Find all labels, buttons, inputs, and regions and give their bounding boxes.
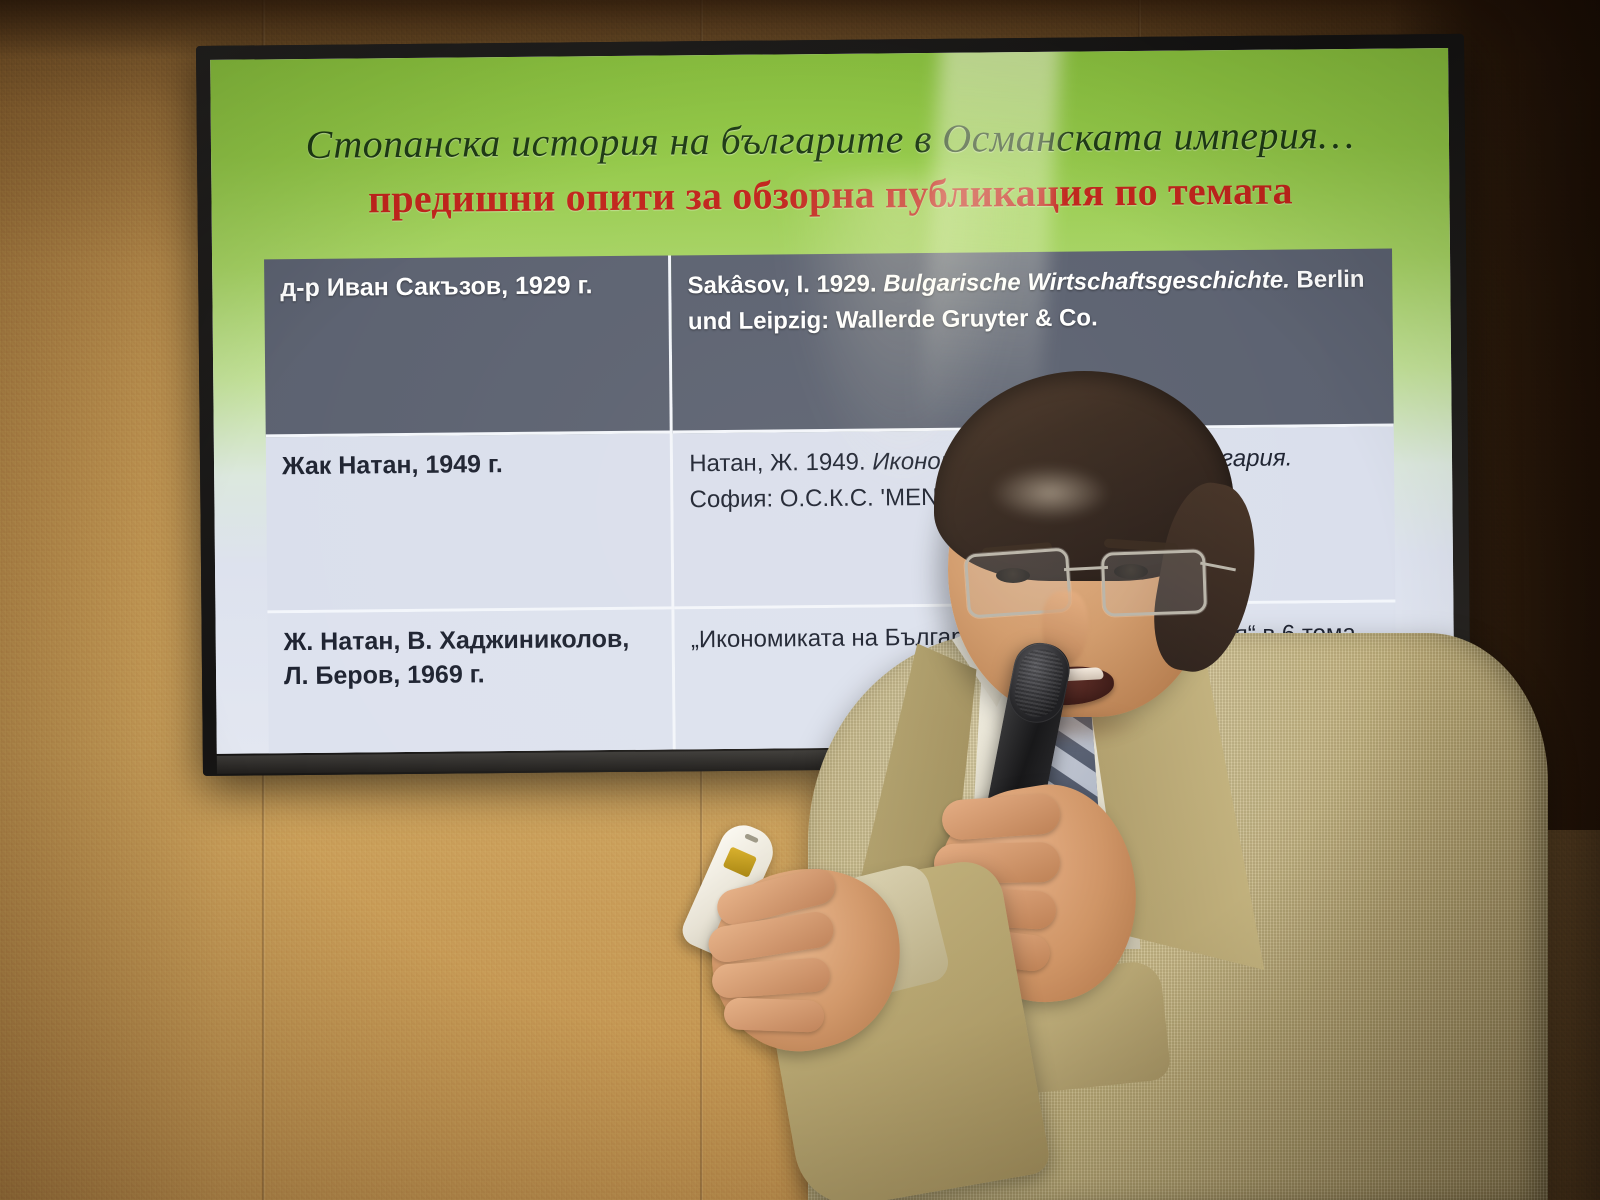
author-text: Ж. Натан, В. Хаджиниколов, Л. Беров, 196… xyxy=(284,623,657,694)
eyeglass-lens-right xyxy=(1101,549,1207,617)
reference-italic-title: Bulgarische Wirtschaftsgeschichte. xyxy=(883,267,1290,298)
slide-title-block: Стопанска история на българите в Османск… xyxy=(211,110,1450,224)
finger xyxy=(723,997,824,1032)
forehead-highlight xyxy=(990,465,1110,521)
remote-button xyxy=(744,833,759,843)
presentation-photo-scene: Стопанска история на българите в Османск… xyxy=(0,0,1600,1200)
remote-gold-label xyxy=(723,846,758,877)
finger xyxy=(941,793,1062,841)
speaker-figure xyxy=(690,405,1600,1200)
author-text: Жак Натан, 1949 г. xyxy=(282,447,655,484)
slide-title-line-2: предишни опити за обзорна публикация по … xyxy=(211,165,1449,224)
reference-text: Sakâsov, I. 1929. Bulgarische Wirtschaft… xyxy=(687,262,1376,341)
microphone-grill xyxy=(1011,645,1067,720)
reference-prefix: Sakâsov, I. 1929. xyxy=(687,270,883,299)
table-cell-author: Жак Натан, 1949 г. xyxy=(266,433,675,613)
eyeglasses-icon xyxy=(966,551,1206,613)
slide-title-line-1: Стопанска история на българите в Османск… xyxy=(211,110,1449,169)
author-text: д-р Иван Сакъзов, 1929 г. xyxy=(280,269,653,306)
table-cell-author: д-р Иван Сакъзов, 1929 г. xyxy=(264,255,673,437)
table-cell-author: Ж. Натан, В. Хаджиниколов, Л. Беров, 196… xyxy=(267,609,676,753)
